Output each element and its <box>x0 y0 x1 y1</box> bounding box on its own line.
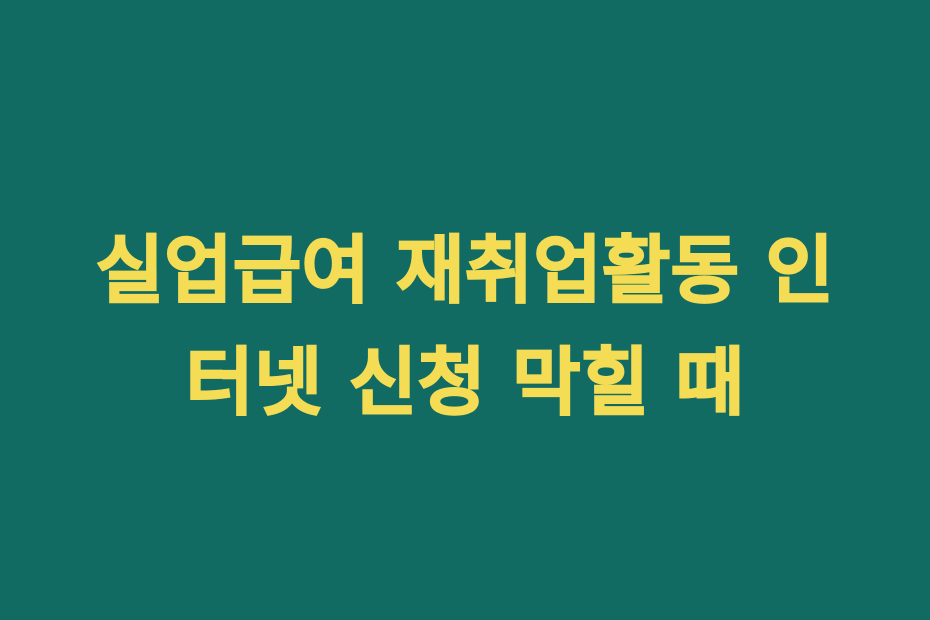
thumbnail-card: 실업급여 재취업활동 인 터넷 신청 막힐 때 <box>0 0 930 620</box>
headline-line-1: 실업급여 재취업활동 인 <box>24 215 906 327</box>
headline-line-2: 터넷 신청 막힐 때 <box>24 327 906 439</box>
headline-block: 실업급여 재취업활동 인 터넷 신청 막힐 때 <box>0 215 930 439</box>
